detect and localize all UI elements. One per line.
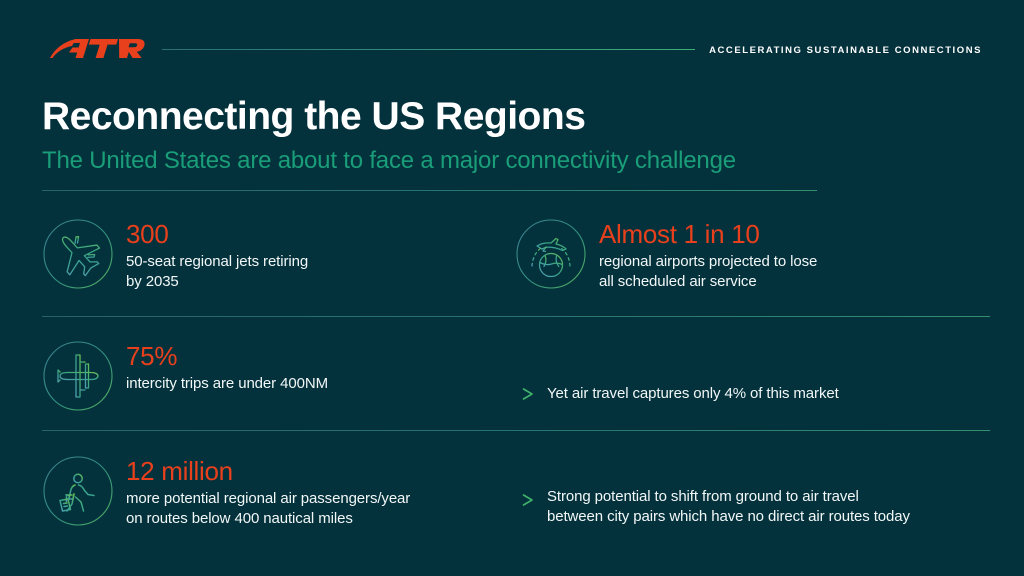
infographic-page: ACCELERATING SUSTAINABLE CONNECTIONS Rec… — [0, 0, 1024, 576]
divider-bottom — [42, 430, 990, 431]
stat-value: 12 million — [126, 457, 410, 485]
turboprop-top-view-icon — [42, 340, 114, 412]
stat-value: Almost 1 in 10 — [599, 220, 817, 248]
stat-body: Almost 1 in 10 regional airports project… — [599, 218, 817, 293]
page-title: Reconnecting the US Regions — [42, 95, 585, 139]
atr-logo — [42, 35, 150, 65]
brand-tagline: ACCELERATING SUSTAINABLE CONNECTIONS — [709, 45, 982, 56]
header-divider — [162, 49, 695, 50]
stat-desc-line-2: by 2035 — [126, 272, 308, 292]
stat-card-jets-retiring: 300 50-seat regional jets retiring by 20… — [42, 218, 308, 293]
stat-body: 75% intercity trips are under 400NM — [126, 340, 328, 394]
stat-description: intercity trips are under 400NM — [126, 374, 328, 394]
stat-card-potential-passengers: 12 million more potential regional air p… — [42, 455, 410, 530]
stat-desc-line-2: all scheduled air service — [599, 272, 817, 292]
arrow-right-icon — [487, 387, 535, 401]
stat-desc-line-1: 50-seat regional jets retiring — [126, 252, 308, 272]
stat-body: 12 million more potential regional air p… — [126, 455, 410, 530]
page-subtitle: The United States are about to face a ma… — [42, 147, 736, 175]
stat-value: 75% — [126, 342, 328, 370]
note-air-travel-share: Yet air travel captures only 4% of this … — [487, 384, 839, 404]
divider-middle — [42, 316, 990, 317]
arrow-right-icon — [487, 493, 535, 507]
stat-desc-line-1: more potential regional air passengers/y… — [126, 489, 410, 509]
plane-over-globe-icon — [515, 218, 587, 290]
stat-desc-line-2: on routes below 400 nautical miles — [126, 509, 410, 529]
note-text: Strong potential to shift from ground to… — [547, 487, 910, 528]
note-line-2: between city pairs which have no direct … — [547, 507, 910, 527]
stat-description: regional airports projected to lose all … — [599, 252, 817, 293]
note-line-1: Yet air travel captures only 4% of this … — [547, 384, 839, 404]
page-header: ACCELERATING SUSTAINABLE CONNECTIONS — [42, 33, 982, 67]
stat-description: 50-seat regional jets retiring by 2035 — [126, 252, 308, 293]
stat-body: 300 50-seat regional jets retiring by 20… — [126, 218, 308, 293]
stat-description: more potential regional air passengers/y… — [126, 489, 410, 530]
stat-desc-line-1: regional airports projected to lose — [599, 252, 817, 272]
stat-value: 300 — [126, 220, 308, 248]
note-ground-to-air-shift: Strong potential to shift from ground to… — [487, 487, 910, 528]
stat-desc-line-1: intercity trips are under 400NM — [126, 374, 328, 394]
jet-top-view-icon — [42, 218, 114, 290]
note-text: Yet air travel captures only 4% of this … — [547, 384, 839, 404]
stat-card-intercity-trips: 75% intercity trips are under 400NM — [42, 340, 328, 412]
divider-top — [42, 190, 817, 191]
stat-card-airports-losing-service: Almost 1 in 10 regional airports project… — [515, 218, 817, 293]
note-line-1: Strong potential to shift from ground to… — [547, 487, 910, 507]
traveler-with-luggage-icon — [42, 455, 114, 527]
